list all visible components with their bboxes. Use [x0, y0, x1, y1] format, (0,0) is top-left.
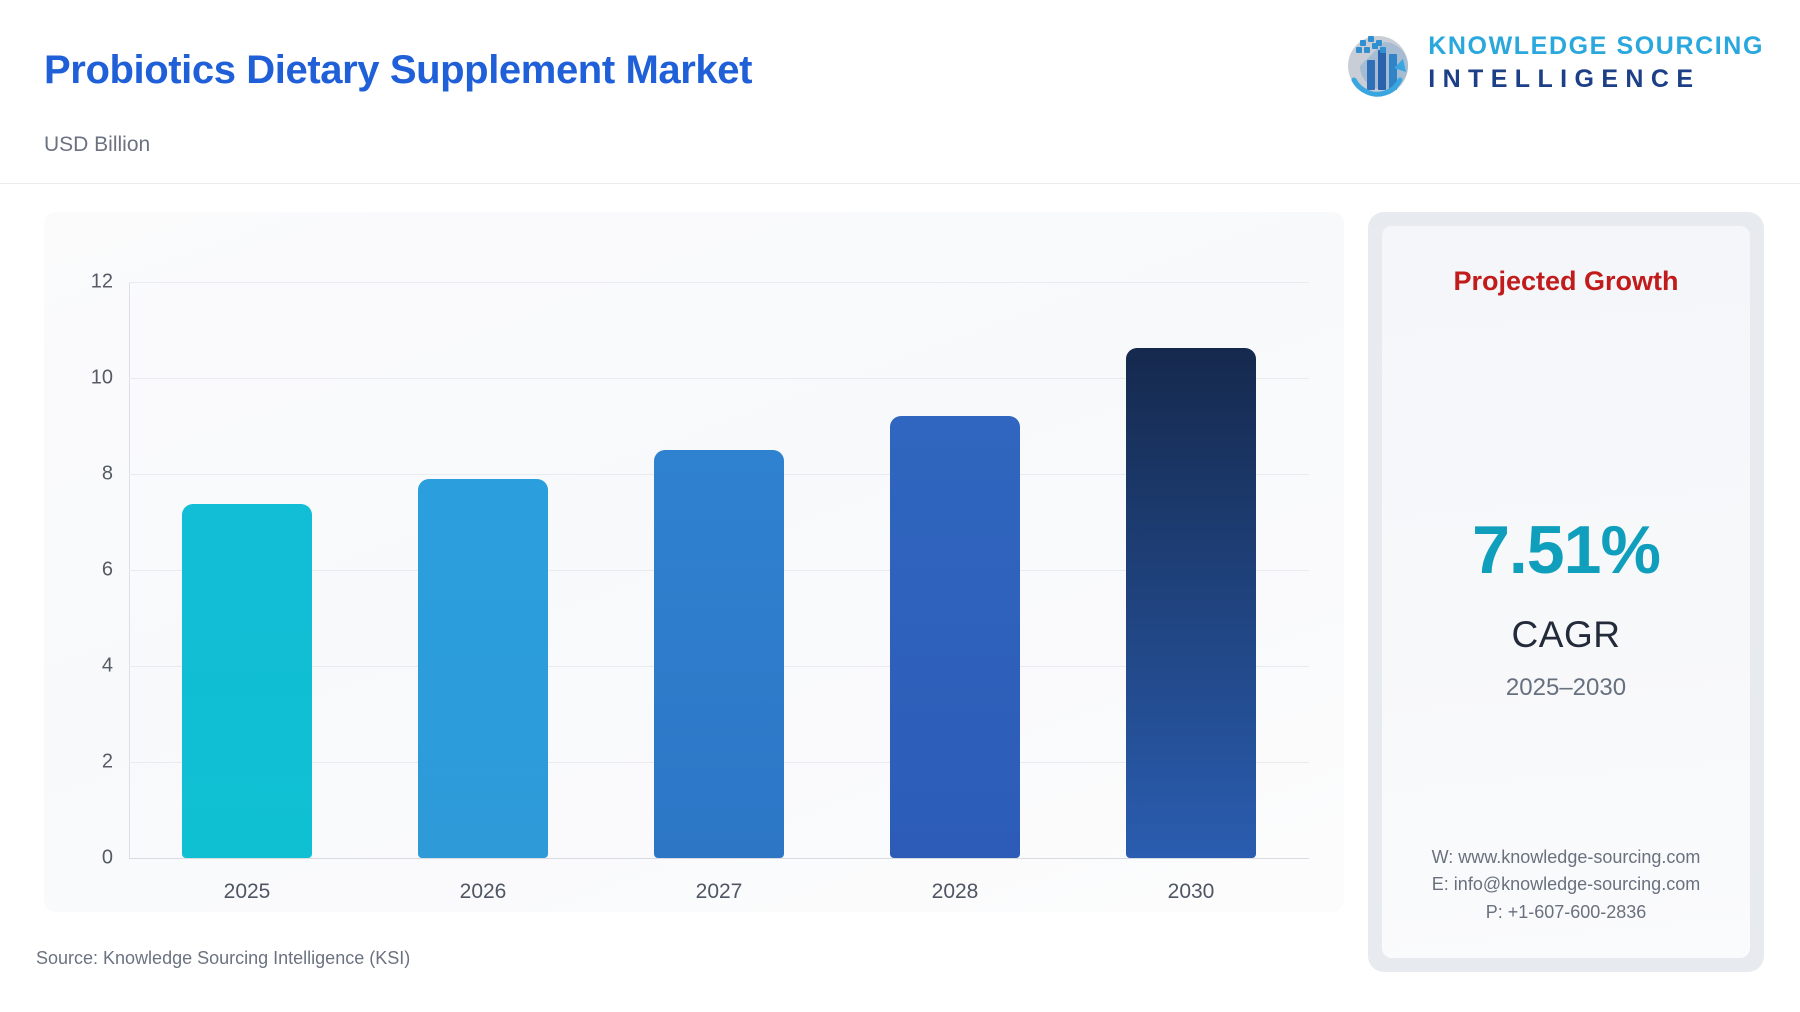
bar-2025[interactable]	[182, 504, 312, 858]
cagr-period: 2025–2030	[1382, 674, 1750, 702]
brand-logo: KNOWLEDGE SOURCING INTELLIGENCE	[1338, 24, 1764, 102]
header: Probiotics Dietary Supplement Market USD…	[0, 0, 1800, 184]
bar-2027[interactable]	[654, 450, 784, 858]
x-axis-tick-label: 2026	[460, 880, 507, 904]
infographic-page: Probiotics Dietary Supplement Market USD…	[0, 0, 1800, 1012]
contact-phone[interactable]: P: +1-607-600-2836	[1382, 899, 1750, 926]
x-axis-tick-label: 2028	[932, 880, 979, 904]
logo-wordmark: KNOWLEDGE SOURCING INTELLIGENCE	[1428, 34, 1764, 92]
x-axis-tick-label: 2027	[696, 880, 743, 904]
x-axis-tick-label: 2030	[1168, 880, 1215, 904]
bar-slot: 2026	[371, 282, 595, 858]
bar-slot: 2025	[135, 282, 359, 858]
page-subtitle: USD Billion	[44, 133, 150, 157]
bar-chart-globe-arrow-icon	[1338, 24, 1416, 102]
gridline	[129, 858, 1309, 859]
y-axis-tick-label: 2	[102, 751, 113, 774]
bar-2026[interactable]	[418, 479, 548, 858]
projected-growth-card: Projected Growth 7.51% CAGR 2025–2030 W:…	[1368, 212, 1764, 972]
y-axis-tick-label: 12	[91, 271, 113, 294]
source-note: Source: Knowledge Sourcing Intelligence …	[36, 948, 410, 969]
y-axis-tick-label: 4	[102, 655, 113, 678]
contact-block: W: www.knowledge-sourcing.com E: info@kn…	[1382, 844, 1750, 926]
contact-website[interactable]: W: www.knowledge-sourcing.com	[1382, 844, 1750, 871]
y-axis-tick-label: 8	[102, 463, 113, 486]
bar-slot: 2028	[843, 282, 1067, 858]
cagr-value: 7.51%	[1382, 511, 1750, 589]
projected-growth-title: Projected Growth	[1382, 266, 1750, 297]
y-axis-tick-label: 10	[91, 367, 113, 390]
page-title: Probiotics Dietary Supplement Market	[44, 48, 752, 93]
bar-slot: 2030	[1079, 282, 1303, 858]
contact-email[interactable]: E: info@knowledge-sourcing.com	[1382, 871, 1750, 898]
cagr-label: CAGR	[1382, 614, 1750, 656]
y-axis-tick-label: 6	[102, 559, 113, 582]
bar-slot: 2027	[607, 282, 831, 858]
chart-card: 024681012 20252026202720282030	[44, 212, 1344, 912]
logo-line-knowledge-sourcing: KNOWLEDGE SOURCING	[1428, 34, 1764, 59]
bar-series: 20252026202720282030	[129, 282, 1309, 858]
bar-2028[interactable]	[890, 416, 1020, 858]
y-axis-tick-label: 0	[102, 847, 113, 870]
bar-chart-plot-area: 024681012 20252026202720282030	[129, 282, 1309, 858]
logo-line-intelligence: INTELLIGENCE	[1428, 67, 1764, 92]
bar-2030[interactable]	[1126, 348, 1256, 858]
x-axis-tick-label: 2025	[224, 880, 271, 904]
projected-growth-inner: Projected Growth 7.51% CAGR 2025–2030 W:…	[1382, 226, 1750, 958]
